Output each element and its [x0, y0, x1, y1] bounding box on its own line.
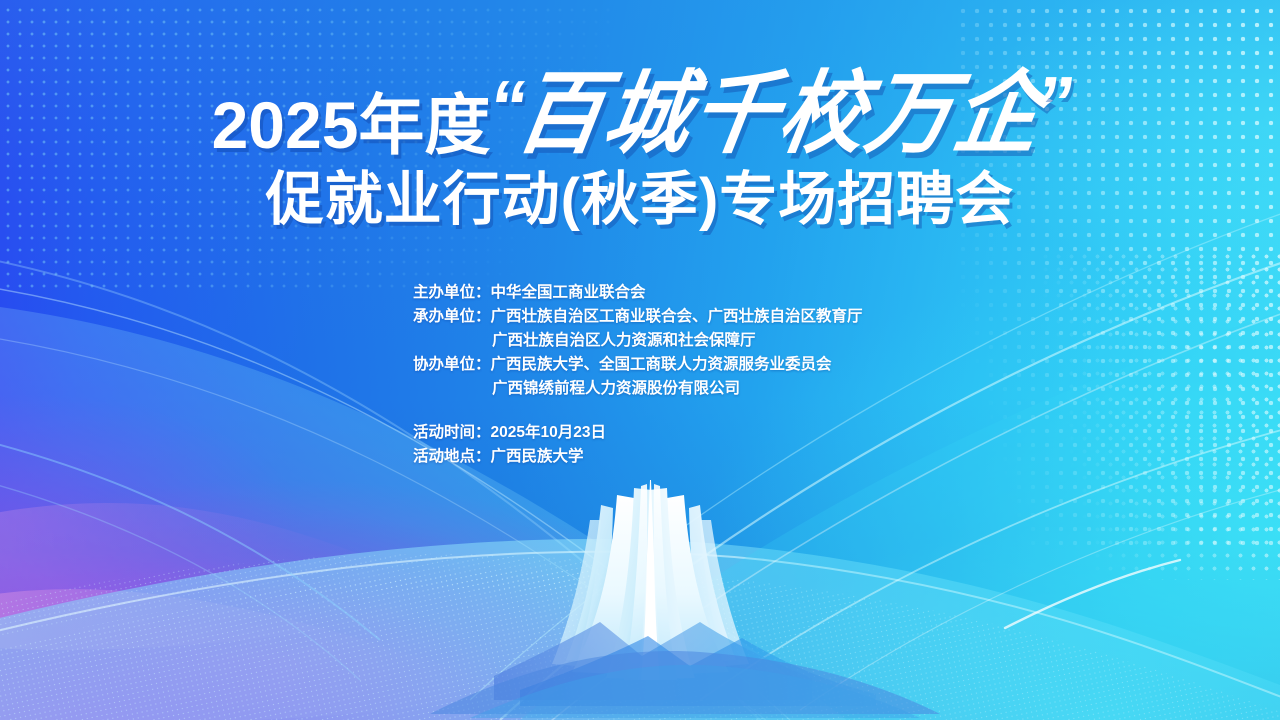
detail-row: 主办单位：中华全国工商业联合会: [413, 281, 973, 305]
poster-canvas: 2025年度 “ 百城千校万企 ” 促就业行动(秋季)专场招聘会 主办单位：中华…: [0, 0, 1280, 720]
detail-value: 广西民族大学、全国工商联人力资源服务业委员会: [491, 356, 832, 373]
title-brush-slogan: 百城千校万企: [505, 70, 1056, 160]
detail-value: 中华全国工商业联合会: [491, 284, 646, 301]
detail-row: 协办单位：广西民族大学、全国工商联人力资源服务业委员会: [413, 353, 973, 377]
detail-value: 广西锦绣前程人力资源股份有限公司: [492, 380, 740, 397]
event-place-value: 广西民族大学: [491, 448, 584, 465]
event-time-row: 活动时间：2025年10月23日: [413, 421, 973, 445]
detail-value: 广西壮族自治区人力资源和社会保障厅: [492, 332, 756, 349]
event-time-value: 2025年10月23日: [491, 424, 606, 441]
event-time-label: 活动时间：: [413, 421, 491, 445]
title-line-1: 2025年度 “ 百城千校万企 ”: [0, 62, 1280, 162]
info-spacer: [413, 401, 973, 421]
event-place-label: 活动地点：: [413, 445, 491, 469]
detail-label: 承办单位：: [413, 305, 491, 329]
quote-close-mark: ”: [1033, 73, 1072, 132]
event-place-row: 活动地点：广西民族大学: [413, 445, 973, 469]
detail-value: 广西壮族自治区工商业联合会、广西壮族自治区教育厅: [491, 308, 863, 325]
detail-label: 主办单位：: [413, 281, 491, 305]
title-subtitle: 促就业行动(秋季)专场招聘会: [0, 168, 1280, 233]
title-year: 2025年度: [212, 92, 491, 158]
detail-label: 协办单位：: [413, 353, 491, 377]
detail-row: 广西壮族自治区人力资源和社会保障厅: [413, 329, 973, 353]
poster-info-block: 主办单位：中华全国工商业联合会 承办单位：广西壮族自治区工商业联合会、广西壮族自…: [413, 281, 973, 469]
detail-row: 承办单位：广西壮族自治区工商业联合会、广西壮族自治区教育厅: [413, 305, 973, 329]
detail-row: 广西锦绣前程人力资源股份有限公司: [413, 377, 973, 401]
poster-title: 2025年度 “ 百城千校万企 ” 促就业行动(秋季)专场招聘会: [0, 62, 1280, 233]
